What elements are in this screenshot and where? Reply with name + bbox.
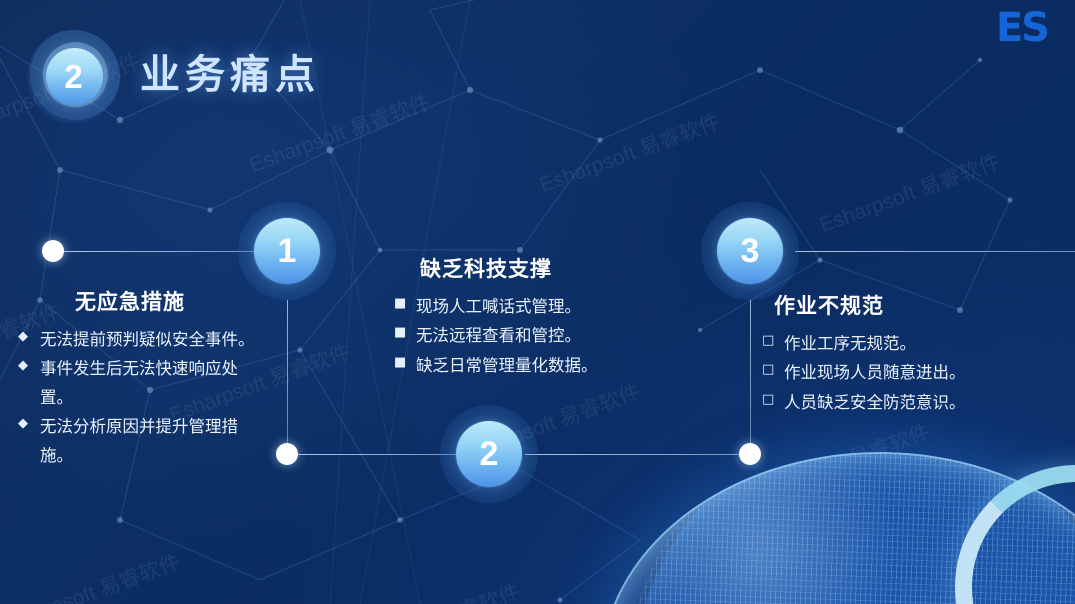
section-number-text: 2: [27, 30, 120, 123]
column-heading-right: 作业不规范: [762, 290, 1062, 320]
brand-logo: ES: [996, 8, 1048, 48]
endpoint-dot-bottom-right: [739, 443, 761, 465]
list-item-text: 作业现场人员随意进出。: [784, 359, 1062, 387]
list-item: □ 作业工序无规范。: [762, 330, 1062, 358]
list-item: ◆ 事件发生后无法快速响应处置。: [18, 355, 268, 412]
list-item: ■ 缺乏日常管理量化数据。: [394, 352, 704, 380]
bullet-list-left: ◆ 无法提前预判疑似安全事件。 ◆ 事件发生后无法快速响应处置。 ◆ 无法分析原…: [18, 326, 268, 470]
list-item-text: 无法提前预判疑似安全事件。: [40, 326, 268, 354]
watermark-text: Esharpsoft 易睿软件: [535, 106, 724, 199]
list-item: □ 人员缺乏安全防范意识。: [762, 389, 1062, 417]
bullet-list-middle: ■ 现场人工喊话式管理。 ■ 无法远程查看和管控。 ■ 缺乏日常管理量化数据。: [394, 293, 704, 380]
list-item: ◆ 无法分析原因并提升管理措施。: [18, 413, 268, 470]
hollow-square-bullet-icon: □: [762, 359, 784, 381]
page-title: 业务痛点: [140, 42, 320, 100]
connector-line-vertical-step3: [750, 300, 751, 446]
diamond-bullet-icon: ◆: [18, 355, 40, 377]
content-column-left: 无应急措施 ◆ 无法提前预判疑似安全事件。 ◆ 事件发生后无法快速响应处置。 ◆…: [18, 286, 268, 471]
watermark-text: Esharpsoft 易睿软件: [815, 146, 1004, 239]
diamond-bullet-icon: ◆: [18, 413, 40, 435]
filled-square-bullet-icon: ■: [394, 293, 416, 315]
column-heading-left: 无应急措施: [18, 286, 268, 316]
filled-square-bullet-icon: ■: [394, 352, 416, 374]
content-column-right: 作业不规范 □ 作业工序无规范。 □ 作业现场人员随意进出。 □ 人员缺乏安全防…: [762, 290, 1062, 418]
connector-line-left-top: [62, 251, 254, 252]
connector-line-right-top: [795, 251, 1075, 252]
list-item-text: 无法分析原因并提升管理措施。: [40, 413, 268, 470]
section-number-badge: 2: [27, 30, 120, 123]
step-circle-2[interactable]: 2: [440, 405, 538, 503]
list-item: □ 作业现场人员随意进出。: [762, 359, 1062, 387]
list-item: ■ 无法远程查看和管控。: [394, 322, 704, 350]
connector-line-vertical-step1: [287, 300, 288, 446]
content-column-middle: 缺乏科技支撑 ■ 现场人工喊话式管理。 ■ 无法远程查看和管控。 ■ 缺乏日常管…: [394, 253, 704, 381]
watermark-text: Esharpsoft 易睿软件: [0, 546, 184, 604]
watermark-text: Esharpsoft 易睿软件: [335, 576, 524, 604]
bullet-list-right: □ 作业工序无规范。 □ 作业现场人员随意进出。 □ 人员缺乏安全防范意识。: [762, 330, 1062, 417]
slide-canvas: Esharpsoft 易睿软件 Esharpsoft 易睿软件 Esharpso…: [0, 0, 1075, 604]
hollow-square-bullet-icon: □: [762, 330, 784, 352]
diamond-bullet-icon: ◆: [18, 326, 40, 348]
list-item-text: 人员缺乏安全防范意识。: [784, 389, 1062, 417]
hollow-square-bullet-icon: □: [762, 389, 784, 411]
endpoint-dot-bottom-left: [276, 443, 298, 465]
list-item: ◆ 无法提前预判疑似安全事件。: [18, 326, 268, 354]
step-number-2: 2: [440, 405, 538, 503]
list-item-text: 无法远程查看和管控。: [416, 322, 704, 350]
list-item-text: 作业工序无规范。: [784, 330, 1062, 358]
step-number-3: 3: [701, 202, 799, 300]
column-heading-middle: 缺乏科技支撑: [394, 253, 704, 283]
list-item: ■ 现场人工喊话式管理。: [394, 293, 704, 321]
step-circle-3[interactable]: 3: [701, 202, 799, 300]
filled-square-bullet-icon: ■: [394, 322, 416, 344]
list-item-text: 事件发生后无法快速响应处置。: [40, 355, 268, 412]
endpoint-dot-left: [42, 240, 64, 262]
list-item-text: 现场人工喊话式管理。: [416, 293, 704, 321]
list-item-text: 缺乏日常管理量化数据。: [416, 352, 704, 380]
connector-line-bottom-right: [525, 454, 755, 455]
